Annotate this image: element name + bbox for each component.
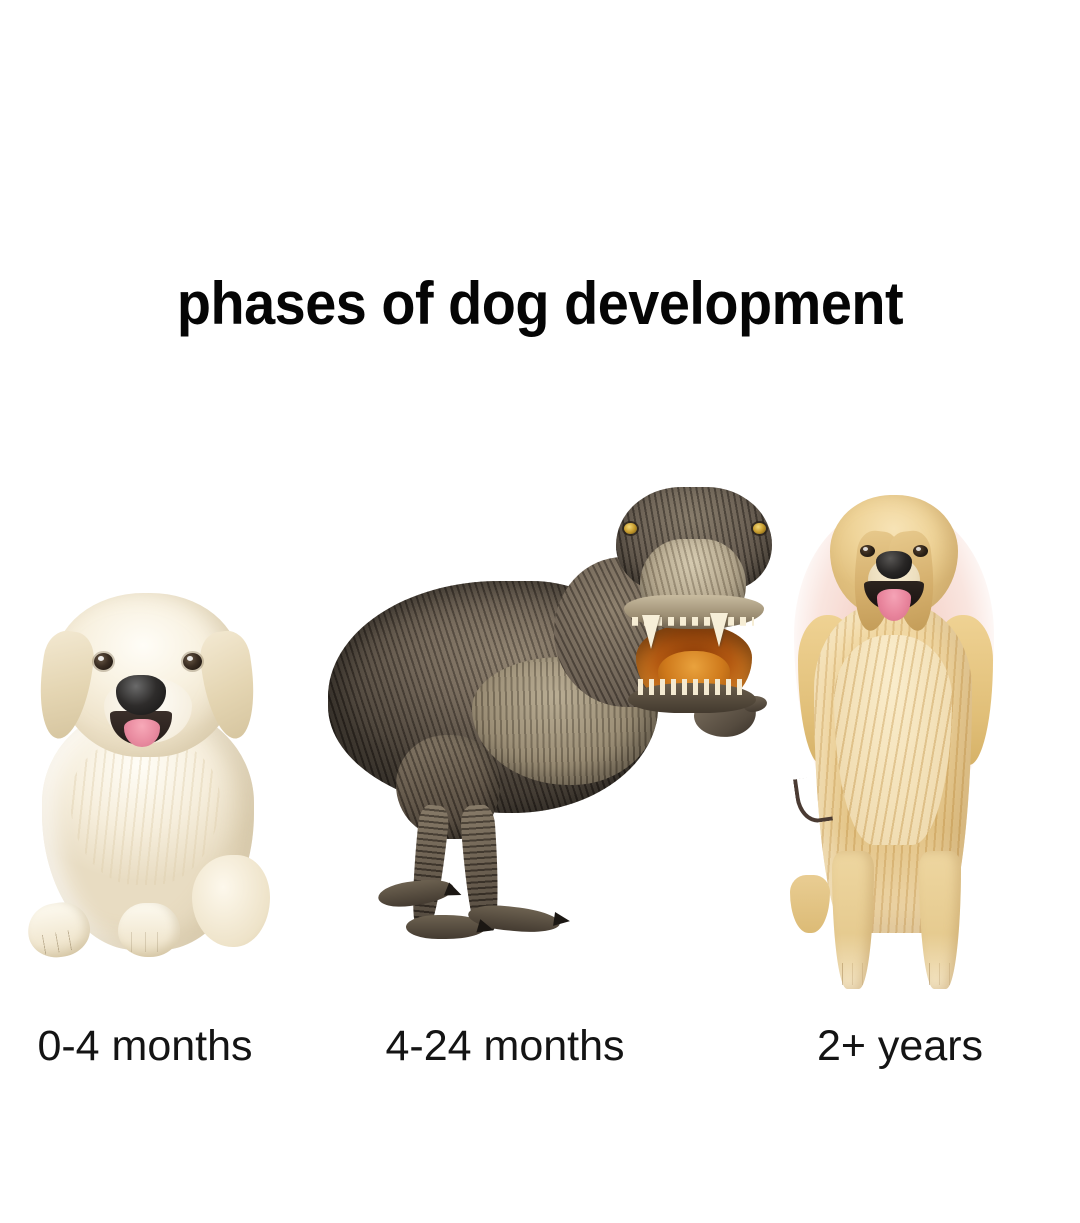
- puppy-eye-right: [183, 653, 202, 670]
- adult-dog-head: [830, 495, 958, 617]
- puppy-head: [54, 593, 240, 757]
- trex-claw-2: [476, 919, 495, 937]
- meme-canvas: phases of dog development: [0, 0, 1080, 1223]
- puppy-eye-left: [94, 653, 113, 670]
- figure-stage: [0, 440, 1080, 1020]
- caption-trex: 4-24 months: [290, 1018, 720, 1080]
- puppy-ear-right: [197, 628, 262, 742]
- puppy-image: [22, 585, 272, 975]
- puppy-ear-left: [33, 628, 98, 742]
- adult-dog-image: [788, 485, 1003, 995]
- trex-fang-right: [710, 613, 728, 647]
- adult-dog-front-leg-right: [919, 851, 961, 989]
- trex-claw-1: [444, 883, 464, 902]
- adult-dog-front-leg-left: [832, 851, 874, 989]
- puppy-front-paw-right: [118, 903, 180, 957]
- trex-image: [322, 485, 782, 975]
- trex-claw-3: [553, 912, 571, 928]
- adult-dog-hind-paw: [790, 875, 830, 933]
- trex-eye-right: [753, 523, 766, 534]
- adult-dog-eye-right: [913, 545, 928, 557]
- adult-dog-eye-left: [860, 545, 875, 557]
- caption-adult-dog: 2+ years: [720, 1018, 1080, 1080]
- meme-title: phases of dog development: [38, 272, 1042, 336]
- caption-row: 0-4 months 4-24 months 2+ years: [0, 1018, 1080, 1080]
- trex-fang-left: [642, 615, 660, 649]
- trex-head: [610, 487, 782, 693]
- caption-puppy: 0-4 months: [0, 1018, 290, 1080]
- trex-lower-teeth: [638, 679, 748, 695]
- puppy-chest-fur: [70, 735, 220, 885]
- puppy-hind-leg: [192, 855, 270, 947]
- adult-dog-leash: [793, 775, 833, 825]
- trex-foot-back: [377, 876, 456, 910]
- adult-dog-chest-fur: [834, 635, 952, 845]
- trex-eye-left: [624, 523, 637, 534]
